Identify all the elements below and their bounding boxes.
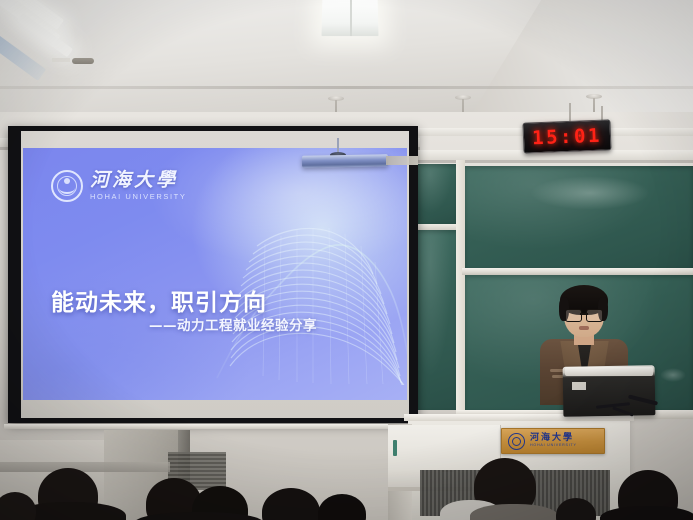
monitor-bezel: [565, 367, 653, 376]
hohai-logo: 河海大學 HOHAI UNIVERSITY: [51, 170, 186, 202]
slide-title: 能动未来，职引方向: [51, 283, 267, 317]
presenter-glasses-icon: [565, 309, 603, 320]
chalk-smudge-lower: [660, 368, 686, 382]
ceiling-vent-icon: [72, 58, 94, 64]
plaque-text: 河海大學 HOHAI UNIVERSITY: [530, 434, 577, 448]
monitor-label: [572, 382, 586, 390]
ceiling-plate: [52, 58, 70, 62]
audience-shoulders-4: [470, 504, 558, 520]
baseboard: [0, 462, 170, 472]
suspended-light-fixture-end: [386, 156, 418, 165]
digital-wall-clock: 15:01: [522, 119, 611, 153]
audience-shoulders-5: [600, 506, 693, 520]
chalkboard-panel-sliver-lower: [418, 230, 458, 410]
chalkboard-divider: [456, 160, 465, 418]
hohai-seal-icon: [51, 170, 83, 202]
chalkboard-panel-sliver-upper: [418, 164, 458, 224]
chalk-smudge-upper: [530, 176, 650, 210]
slide-subtitle: ——动力工程就业经验分享: [149, 314, 317, 334]
ceiling-light-panel-center: [321, 0, 378, 36]
projection-screen-frame: 河海大學 HOHAI UNIVERSITY 能动未来，职引方向 ——动力工程就业…: [8, 126, 418, 423]
hohai-logo-en: HOHAI UNIVERSITY: [90, 193, 186, 201]
podium-plaque: 河海大學 HOHAI UNIVERSITY: [501, 428, 605, 454]
clock-time-display: 15:01: [522, 119, 611, 153]
hohai-logo-text: 河海大學 HOHAI UNIVERSITY: [90, 171, 186, 201]
plaque-label-cn: 河海大學: [530, 434, 577, 443]
chalkboard-rail-middle: [462, 268, 693, 275]
hohai-logo-cn: 河海大學: [90, 171, 186, 190]
cabinet-indicator: [393, 440, 397, 456]
plaque-seal-icon: [508, 433, 525, 450]
presenter-mouth: [579, 326, 589, 330]
ceiling-edge-line: [0, 86, 693, 89]
lecture-hall-photo: 15:01: [0, 0, 693, 520]
screen-bottom-rail: [4, 424, 424, 429]
plaque-label-en: HOHAI UNIVERSITY: [530, 444, 577, 448]
presentation-slide: 河海大學 HOHAI UNIVERSITY 能动未来，职引方向 ——动力工程就业…: [23, 148, 407, 400]
suspended-light-fixture: [302, 154, 388, 167]
